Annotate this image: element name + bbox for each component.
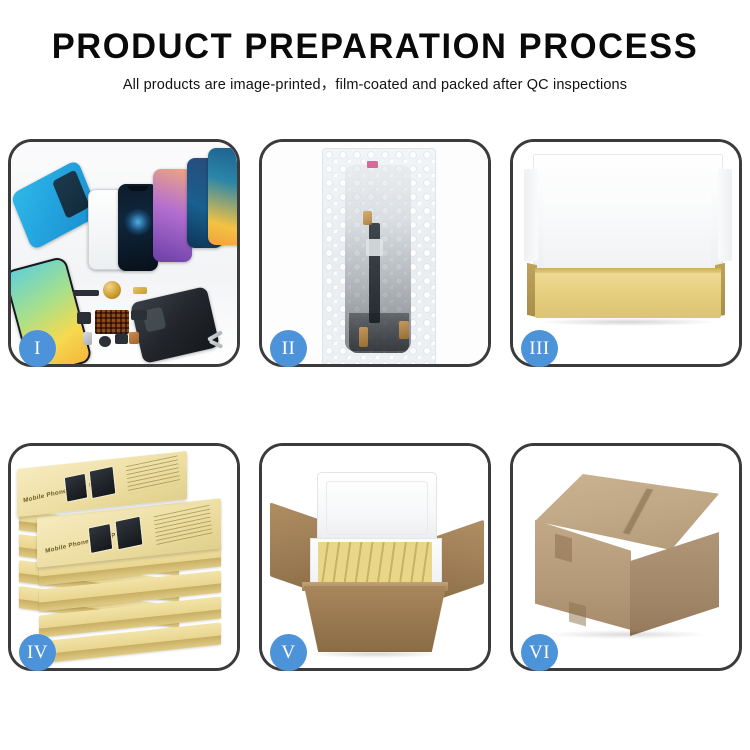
- page-title: PRODUCT PREPARATION PROCESS: [6, 26, 745, 68]
- spare-part-flex: [77, 312, 91, 324]
- drop-shadow: [310, 650, 440, 658]
- step-badge-5: V: [270, 634, 307, 671]
- drop-shadow: [539, 318, 717, 326]
- packed-yellow-boxes: [318, 542, 432, 586]
- chip-array: [95, 310, 129, 334]
- step-badge-1: I: [19, 330, 56, 367]
- pink-tape-marker: [367, 161, 378, 168]
- box-spec-lines-top: [126, 455, 181, 493]
- gold-component: [103, 281, 121, 299]
- process-step-panel-4: Mobile Phone Spare Parts Mobile Phone Sp…: [8, 443, 240, 671]
- spare-part-sim-tray: [83, 332, 92, 345]
- gold-contact-a: [363, 211, 372, 225]
- box-spec-lines: [154, 505, 213, 546]
- page-subtitle: All products are image-printed，film-coat…: [0, 75, 750, 95]
- process-step-panel-1: I: [8, 139, 240, 367]
- step-badge-2: II: [270, 330, 307, 367]
- product-preparation-page: PRODUCT PREPARATION PROCESS All products…: [0, 0, 750, 750]
- process-step-panel-3: III: [510, 139, 742, 367]
- spare-part-strip: [73, 290, 99, 296]
- carton-front-panel: [304, 586, 446, 652]
- step-badge-6: VI: [521, 634, 558, 671]
- foam-sheet: [543, 190, 711, 272]
- process-step-panel-5: V: [259, 443, 491, 671]
- foam-box-lid: [317, 472, 437, 546]
- box-front-panel: [535, 268, 721, 318]
- spare-part-camera: [115, 334, 128, 344]
- box-window-c: [64, 473, 89, 503]
- spare-part-speaker: [99, 336, 111, 347]
- process-step-panel-6: VI: [510, 443, 742, 671]
- flex-cable: [369, 223, 380, 323]
- connector-chip: [366, 239, 383, 256]
- process-step-panel-2: II: [259, 139, 491, 367]
- box-window-d: [89, 466, 117, 500]
- page-header: PRODUCT PREPARATION PROCESS All products…: [0, 26, 750, 95]
- drop-shadow: [547, 630, 707, 639]
- amber-wave-phone: [208, 148, 237, 245]
- box-window-a: [88, 523, 114, 554]
- step-badge-4: IV: [19, 634, 56, 671]
- dark-display-phone: [118, 184, 158, 271]
- bubble-wrap-bag: [322, 148, 436, 364]
- box-window-b: [115, 516, 144, 551]
- step-badge-3: III: [521, 330, 558, 367]
- spare-part-copper: [129, 332, 139, 344]
- carton-tape-upper: [555, 534, 572, 563]
- gold-contact-c: [399, 321, 409, 339]
- gold-contact-b: [359, 327, 368, 347]
- process-step-grid: I II: [8, 139, 742, 671]
- spare-part-gold-clip: [133, 287, 147, 294]
- spare-part-connector: [131, 310, 147, 320]
